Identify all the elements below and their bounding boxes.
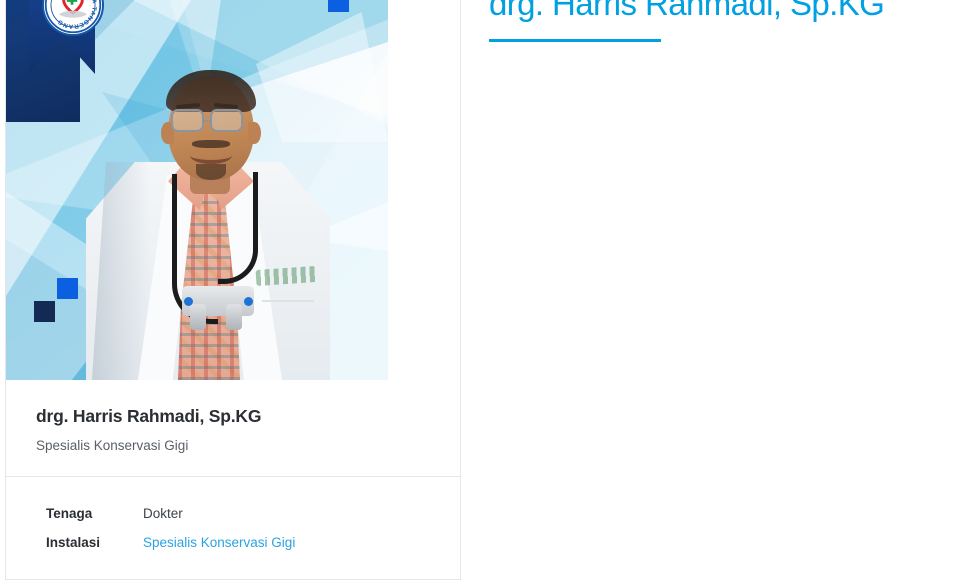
eyeglasses-bridge <box>203 120 211 122</box>
detail-value-tenaga: Dokter <box>143 506 183 521</box>
coat-pocket <box>262 300 314 338</box>
title-underline-rule <box>489 39 661 42</box>
detail-value-instalasi-link[interactable]: Spesialis Konservasi Gigi <box>143 535 295 550</box>
doctor-photo: RSUD KOTA TANGERANG Rumah Sakit Umum Dae… <box>6 0 388 380</box>
eyeglasses-left-lens <box>171 109 204 132</box>
square-bright <box>328 0 349 12</box>
doctor-name: drg. Harris Rahmadi, Sp.KG <box>36 406 430 428</box>
detail-label-tenaga: Tenaga <box>6 506 143 521</box>
coat-shadow <box>92 162 150 380</box>
square-dark <box>34 301 55 322</box>
card-identity-block: drg. Harris Rahmadi, Sp.KG Spesialis Kon… <box>6 380 460 476</box>
table-row: Tenaga Dokter <box>6 499 460 528</box>
doctor-portrait <box>86 0 330 380</box>
detail-label-instalasi: Instalasi <box>6 535 143 550</box>
smile <box>190 147 232 164</box>
loupe-lens-left <box>190 304 206 330</box>
doctor-profile-card: RSUD KOTA TANGERANG Rumah Sakit Umum Dae… <box>5 0 461 580</box>
square-bright <box>57 278 78 299</box>
decorative-squares-bottom <box>34 278 78 322</box>
stethoscope-right-tube <box>218 172 258 284</box>
doctor-specialty: Spesialis Konservasi Gigi <box>36 437 430 455</box>
loupe-lens-right <box>226 304 242 330</box>
decorative-squares-top <box>328 0 372 12</box>
page-title: drg. Harris Rahmadi, Sp.KG <box>489 0 939 24</box>
ear-right <box>248 122 261 144</box>
eyeglasses-right-lens <box>210 109 243 132</box>
doctor-detail-table: Tenaga Dokter Instalasi Spesialis Konser… <box>6 477 460 580</box>
page-root: RSUD KOTA TANGERANG Rumah Sakit Umum Dae… <box>0 0 959 588</box>
page-header: drg. Harris Rahmadi, Sp.KG <box>489 0 939 42</box>
loupe-knob-right <box>244 297 253 306</box>
loupe-knob-left <box>184 297 193 306</box>
table-row: Instalasi Spesialis Konservasi Gigi <box>6 528 460 557</box>
